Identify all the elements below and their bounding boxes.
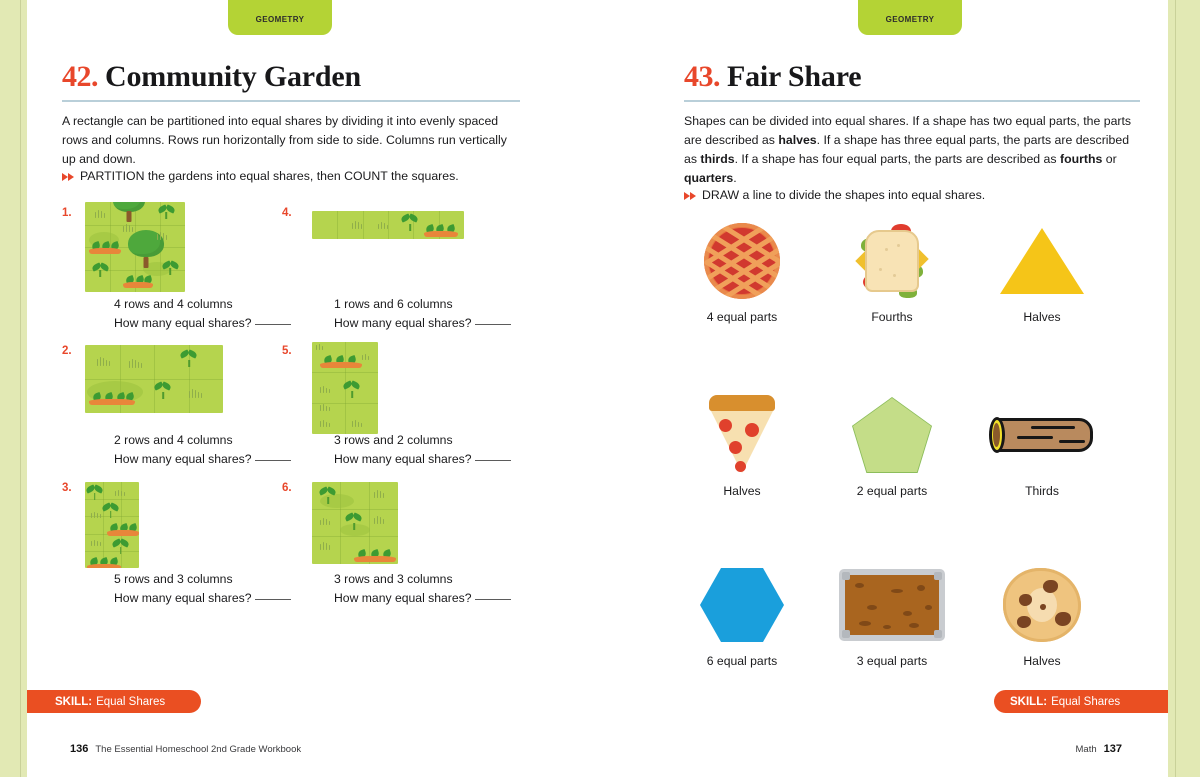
sprout-icon <box>95 264 105 277</box>
shape-label-hexagon: 6 equal parts <box>672 654 812 668</box>
geometry-tab-left[interactable]: GEOMETRY <box>228 0 332 35</box>
grass-icon <box>320 386 331 393</box>
shape-label-brownie-pan: 3 equal parts <box>822 654 962 668</box>
exercise-4: 4. 1 rows and 6 c <box>282 207 532 327</box>
exercise-4-number: 4. <box>282 207 292 219</box>
geometry-tab-right[interactable]: GEOMETRY <box>858 0 962 35</box>
sprout-icon <box>161 206 171 219</box>
exercise-3: 3. <box>62 482 302 602</box>
exercise-1: 1. <box>62 207 302 327</box>
garden-illustration-5[interactable] <box>312 342 378 434</box>
grass-icon <box>320 420 331 427</box>
activity-number-42: 42. <box>62 60 98 94</box>
cookie-art <box>972 562 1112 648</box>
shape-cell-brownie-pan[interactable]: 3 equal parts <box>822 562 962 668</box>
shape-label-pizza: Halves <box>672 484 812 498</box>
shape-label-sandwich: Fourths <box>822 310 962 324</box>
page-title-community-garden: Community Garden <box>105 60 361 94</box>
garden-illustration-1[interactable] <box>85 202 185 292</box>
exercise-4-question-text: How many equal shares? <box>334 316 472 330</box>
geometry-tab-left-label: GEOMETRY <box>256 15 305 24</box>
shape-cell-log[interactable]: Thirds <box>972 392 1112 498</box>
intro-term-halves: halves <box>778 133 816 147</box>
left-intro-paragraph: A rectangle can be partitioned into equa… <box>62 112 522 169</box>
folio-number-left: 136 <box>70 743 88 755</box>
left-instruction-row: PARTITION the gardens into equal shares,… <box>62 167 532 186</box>
skill-banner-left: SKILL: Equal Shares <box>27 690 201 713</box>
exercise-6: 6. <box>282 482 532 602</box>
left-title-rule <box>62 100 520 102</box>
shape-label-triangle: Halves <box>972 310 1112 324</box>
brownie-pan-icon <box>839 569 945 641</box>
exercise-2-rows-columns: 2 rows and 4 columns <box>114 431 233 450</box>
exercise-6-rows-columns: 3 rows and 3 columns <box>334 570 453 589</box>
right-title-rule <box>684 100 1140 102</box>
garden-illustration-4[interactable] <box>312 211 464 239</box>
shape-label-pentagon: 2 equal parts <box>822 484 962 498</box>
log-icon <box>987 412 1097 458</box>
sprout-icon <box>183 351 195 367</box>
garden-illustration-2[interactable] <box>85 345 223 413</box>
exercise-5-number: 5. <box>282 345 292 357</box>
pie-art <box>672 218 812 304</box>
exercise-3-question-text: How many equal shares? <box>114 591 252 605</box>
exercise-2-question: How many equal shares? <box>114 450 291 469</box>
carrot-bed-icon <box>89 385 135 405</box>
exercise-5-question: How many equal shares? <box>334 450 511 469</box>
exercise-5-rows-columns: 3 rows and 2 columns <box>334 431 453 450</box>
right-instruction-row: DRAW a line to divide the shapes into eq… <box>684 186 1154 205</box>
shape-cell-pizza[interactable]: Halves <box>672 392 812 498</box>
workbook-spread: GEOMETRY 42. Community Garden A rectangl… <box>0 0 1200 777</box>
intro-term-quarters: quarters <box>684 171 733 185</box>
pizza-slice-icon <box>709 395 775 475</box>
exercise-2-question-text: How many equal shares? <box>114 452 252 466</box>
shape-cell-cookie[interactable]: Halves <box>972 562 1112 668</box>
folio-number-right: 137 <box>1104 743 1122 755</box>
shape-cell-sandwich[interactable]: Fourths <box>822 218 962 324</box>
grass-icon <box>91 512 102 518</box>
carrot-bed-icon <box>107 520 139 536</box>
exercise-6-answer-blank[interactable] <box>475 599 511 600</box>
grass-icon <box>115 490 126 496</box>
double-arrow-icon <box>62 170 77 184</box>
carrot-bed-icon <box>354 540 396 562</box>
exercise-4-rows-columns: 1 rows and 6 columns <box>334 295 453 314</box>
folio-right: Math 137 <box>1076 743 1122 755</box>
grass-icon <box>157 232 169 240</box>
intro-term-fourths: fourths <box>1060 152 1102 166</box>
sprout-icon <box>115 540 126 554</box>
exercise-3-question: How many equal shares? <box>114 589 291 608</box>
grass-icon <box>189 389 203 398</box>
exercise-6-number: 6. <box>282 482 292 494</box>
sprout-icon <box>89 486 100 500</box>
double-arrow-icon <box>684 189 699 203</box>
tree-icon <box>113 202 145 222</box>
sandwich-icon <box>857 224 927 298</box>
exercise-3-number: 3. <box>62 482 72 494</box>
exercise-5-question-text: How many equal shares? <box>334 452 472 466</box>
carrot-bed-icon <box>89 240 121 254</box>
hexagon-icon <box>700 568 784 642</box>
pentagon-icon <box>852 397 932 473</box>
exercise-1-rows-columns: 4 rows and 4 columns <box>114 295 233 314</box>
grass-icon <box>362 354 372 360</box>
grass-icon <box>320 518 332 525</box>
exercise-6-question-text: How many equal shares? <box>334 591 472 605</box>
grass-icon <box>95 210 107 218</box>
exercise-3-rows-columns: 5 rows and 3 columns <box>114 570 233 589</box>
exercise-5: 5. <box>282 345 532 465</box>
geometry-tab-right-label: GEOMETRY <box>886 15 935 24</box>
intro-seg-6: or <box>1102 152 1116 166</box>
grass-icon <box>378 222 390 229</box>
grass-icon <box>316 344 326 350</box>
sprout-icon <box>348 514 360 530</box>
pie-icon <box>704 223 780 299</box>
garden-illustration-3[interactable] <box>85 482 139 568</box>
skill-name-right: Equal Shares <box>1051 696 1120 708</box>
grass-icon <box>320 542 332 550</box>
right-page: GEOMETRY 43. Fair Share Shapes can be di… <box>600 0 1168 777</box>
right-page-edge-strip <box>1168 0 1200 777</box>
grass-icon <box>352 420 363 427</box>
exercise-2-number: 2. <box>62 345 72 357</box>
intro-seg-4: . If a shape has four equal parts, the p… <box>735 152 1060 166</box>
right-intro-paragraph: Shapes can be divided into equal shares.… <box>684 112 1144 188</box>
shape-label-log: Thirds <box>972 484 1112 498</box>
carrot-bed-icon <box>320 348 362 368</box>
shape-cell-pie[interactable]: 4 equal parts <box>672 218 812 324</box>
grass-icon <box>129 359 143 368</box>
sprout-icon <box>322 488 334 504</box>
grass-icon <box>123 224 135 232</box>
grass-icon <box>374 490 386 498</box>
folio-text-right: Math <box>1076 744 1097 755</box>
sprout-icon <box>346 382 358 398</box>
sandwich-art <box>822 218 962 304</box>
left-page-title-row: 42. Community Garden <box>62 60 361 94</box>
sprout-icon <box>157 383 169 399</box>
exercise-5-answer-blank[interactable] <box>475 460 511 461</box>
hexagon-art <box>672 562 812 648</box>
brownie-pan-art <box>822 562 962 648</box>
shape-cell-pentagon[interactable]: 2 equal parts <box>822 392 962 498</box>
right-instruction-text: DRAW a line to divide the shapes into eq… <box>702 186 985 205</box>
left-instruction-text: PARTITION the gardens into equal shares,… <box>80 167 459 186</box>
activity-number-43: 43. <box>684 60 720 94</box>
shape-cell-triangle[interactable]: Halves <box>972 218 1112 324</box>
grass-icon <box>352 221 364 229</box>
exercise-1-question-text: How many equal shares? <box>114 316 252 330</box>
intro-term-thirds: thirds <box>700 152 734 166</box>
exercise-6-question: How many equal shares? <box>334 589 511 608</box>
skill-label-left: SKILL: <box>55 696 92 708</box>
skill-banner-right: SKILL: Equal Shares <box>994 690 1168 713</box>
exercise-4-answer-blank[interactable] <box>475 324 511 325</box>
cookie-icon <box>1003 568 1081 642</box>
shape-cell-hexagon[interactable]: 6 equal parts <box>672 562 812 668</box>
carrot-bed-icon <box>87 554 121 568</box>
garden-illustration-6[interactable] <box>312 482 398 564</box>
left-page-edge-strip <box>0 0 27 777</box>
sprout-icon <box>404 215 416 231</box>
grass-icon <box>320 404 331 411</box>
intro-seg-8: . <box>733 171 736 185</box>
exercise-4-question: How many equal shares? <box>334 314 511 333</box>
skill-label-right: SKILL: <box>1010 696 1047 708</box>
exercise-1-number: 1. <box>62 207 72 219</box>
shape-label-cookie: Halves <box>972 654 1112 668</box>
folio-text-left: The Essential Homeschool 2nd Grade Workb… <box>95 744 301 755</box>
pizza-art <box>672 392 812 478</box>
grass-icon <box>97 357 111 366</box>
carrot-bed-icon <box>123 274 153 288</box>
sprout-icon <box>165 262 175 275</box>
log-art <box>972 392 1112 478</box>
carrot-bed-icon <box>424 217 458 237</box>
triangle-icon <box>1000 228 1084 294</box>
triangle-art <box>972 218 1112 304</box>
grass-icon <box>374 516 386 524</box>
exercise-2: 2. <box>62 345 302 465</box>
grass-icon <box>91 540 102 546</box>
exercise-1-question: How many equal shares? <box>114 314 291 333</box>
pentagon-art <box>822 392 962 478</box>
page-title-fair-share: Fair Share <box>727 60 861 94</box>
left-page: GEOMETRY 42. Community Garden A rectangl… <box>27 0 600 777</box>
skill-name-left: Equal Shares <box>96 696 165 708</box>
sprout-icon <box>105 504 116 518</box>
right-page-title-row: 43. Fair Share <box>684 60 861 94</box>
shape-label-pie: 4 equal parts <box>672 310 812 324</box>
folio-left: 136 The Essential Homeschool 2nd Grade W… <box>70 743 301 755</box>
